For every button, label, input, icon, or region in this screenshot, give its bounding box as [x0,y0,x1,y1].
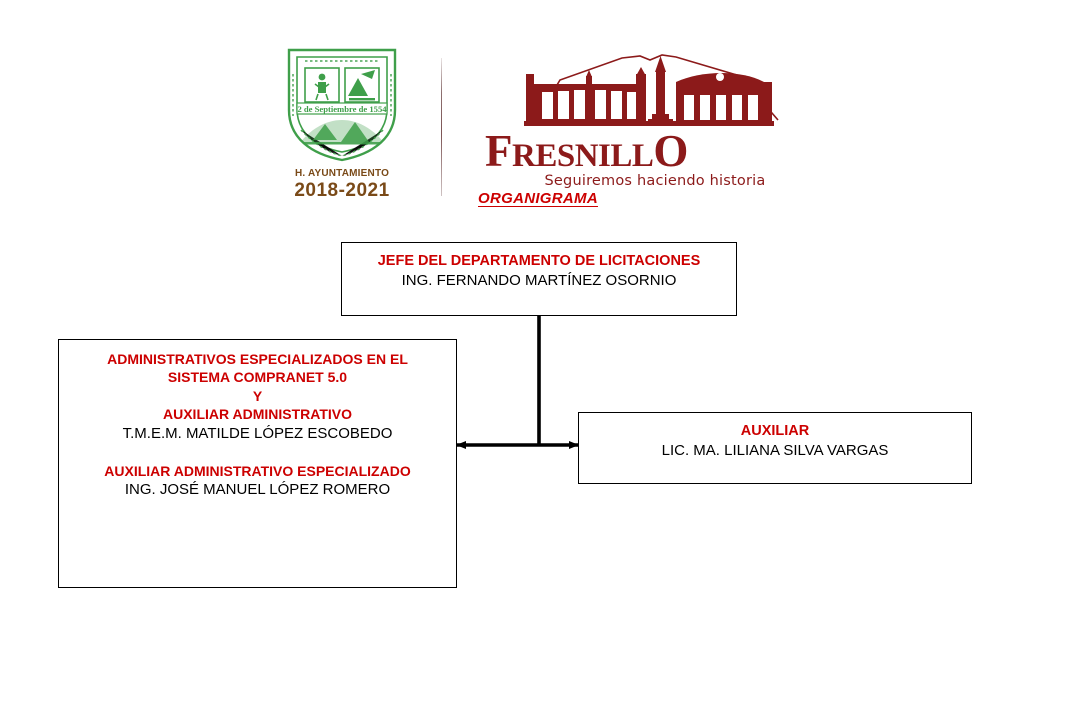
admin-spacer [59,444,456,462]
svg-text:2 de Septiembre de 1554: 2 de Septiembre de 1554 [297,104,387,114]
header-area: 2 de Septiembre de 1554 H. AYUNTAMIENTO … [0,0,1088,232]
header-divider [441,58,442,196]
fresnillo-wordmark: FRESNILLO [485,124,825,176]
ayuntamiento-years: 2018-2021 [262,180,422,202]
admin-title-line-1: ADMINISTRATIVOS ESPECIALIZADOS EN EL [59,350,456,368]
municipal-crest-block: 2 de Septiembre de 1554 H. AYUNTAMIENTO … [262,44,422,202]
admin-name-2: ING. JOSÉ MANUEL LÓPEZ ROMERO [59,480,456,500]
admin-title-line-4: AUXILIAR ADMINISTRATIVO [59,405,456,423]
org-box-auxiliar[interactable]: AUXILIAR LIC. MA. LILIANA SILVA VARGAS [578,412,972,484]
admin-name-1: T.M.E.M. MATILDE LÓPEZ ESCOBEDO [59,424,456,444]
auxiliar-name: LIC. MA. LILIANA SILVA VARGAS [579,441,971,461]
organigrama-title: ORGANIGRAMA [478,190,598,207]
auxiliar-title: AUXILIAR [579,422,971,441]
org-box-administrativos[interactable]: ADMINISTRATIVOS ESPECIALIZADOS EN EL SIS… [58,339,457,588]
admin-title-line-3: Y [59,387,456,405]
jefe-name: ING. FERNANDO MARTÍNEZ OSORNIO [342,271,736,291]
admin-title-line-2: SISTEMA COMPRANET 5.0 [59,368,456,386]
fresnillo-skyline-icon [490,50,820,128]
fresnillo-tagline-text: Seguiremos haciendo historia [545,173,766,189]
fresnillo-wordmark-text: FRESNILLO [485,126,688,176]
ayuntamiento-label: H. AYUNTAMIENTO [262,168,422,179]
fresnillo-brand-block: FRESNILLO Seguiremos haciendo historia [480,50,830,190]
fresnillo-coat-of-arms-icon: 2 de Septiembre de 1554 [279,44,405,164]
org-box-jefe-departamento[interactable]: JEFE DEL DEPARTAMENTO DE LICITACIONES IN… [341,242,737,316]
jefe-title: JEFE DEL DEPARTAMENTO DE LICITACIONES [342,252,736,271]
admin-title-2: AUXILIAR ADMINISTRATIVO ESPECIALIZADO [59,462,456,480]
